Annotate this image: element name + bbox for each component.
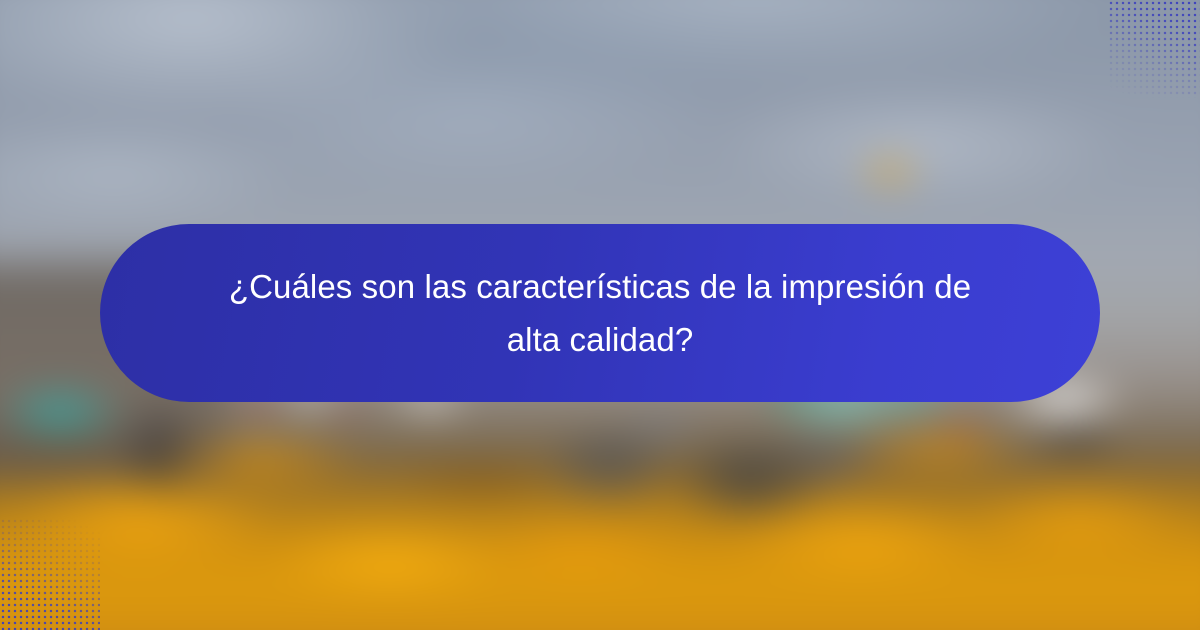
headline-pill: ¿Cuáles son las características de la im…: [100, 224, 1100, 402]
dot-grid-decoration-top-right: [1108, 0, 1200, 98]
dot-grid-decoration-bottom-left: [0, 518, 100, 630]
page-title: ¿Cuáles son las características de la im…: [176, 260, 1024, 367]
social-card: ¿Cuáles son las características de la im…: [0, 0, 1200, 630]
